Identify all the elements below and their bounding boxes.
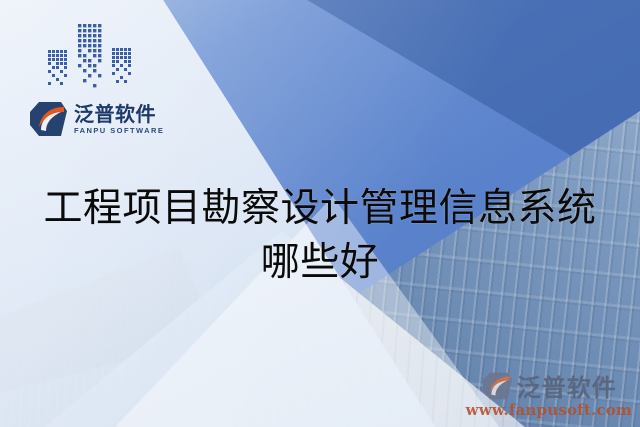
brand-name-en: FANPU SOFTWARE [74, 127, 164, 135]
promo-banner: 泛普软件 FANPU SOFTWARE 工程项目勘察设计管理信息系统 哪些好 泛… [0, 0, 640, 427]
headline-line-1: 工程项目勘察设计管理信息系统 [0, 182, 640, 236]
logo-text-block: 泛普软件 FANPU SOFTWARE [74, 104, 164, 135]
fanpu-swoosh-icon [28, 100, 68, 138]
banner-headline: 工程项目勘察设计管理信息系统 哪些好 [0, 182, 640, 290]
headline-line-2: 哪些好 [0, 236, 640, 290]
logo-wordmark-row: 泛普软件 FANPU SOFTWARE [28, 100, 178, 138]
brand-logo-lockup: 泛普软件 FANPU SOFTWARE [28, 20, 178, 138]
brand-name-cn: 泛普软件 [74, 104, 164, 124]
pixel-skyline-icon [42, 20, 146, 98]
watermark-url: www.fanpusoft.com [466, 401, 632, 419]
fanpu-swoosh-icon [481, 371, 513, 401]
brand-watermark: 泛普软件 www.fanpusoft.com [466, 368, 632, 419]
watermark-name: 泛普软件 [517, 368, 617, 403]
watermark-logo-row: 泛普软件 [481, 368, 617, 403]
